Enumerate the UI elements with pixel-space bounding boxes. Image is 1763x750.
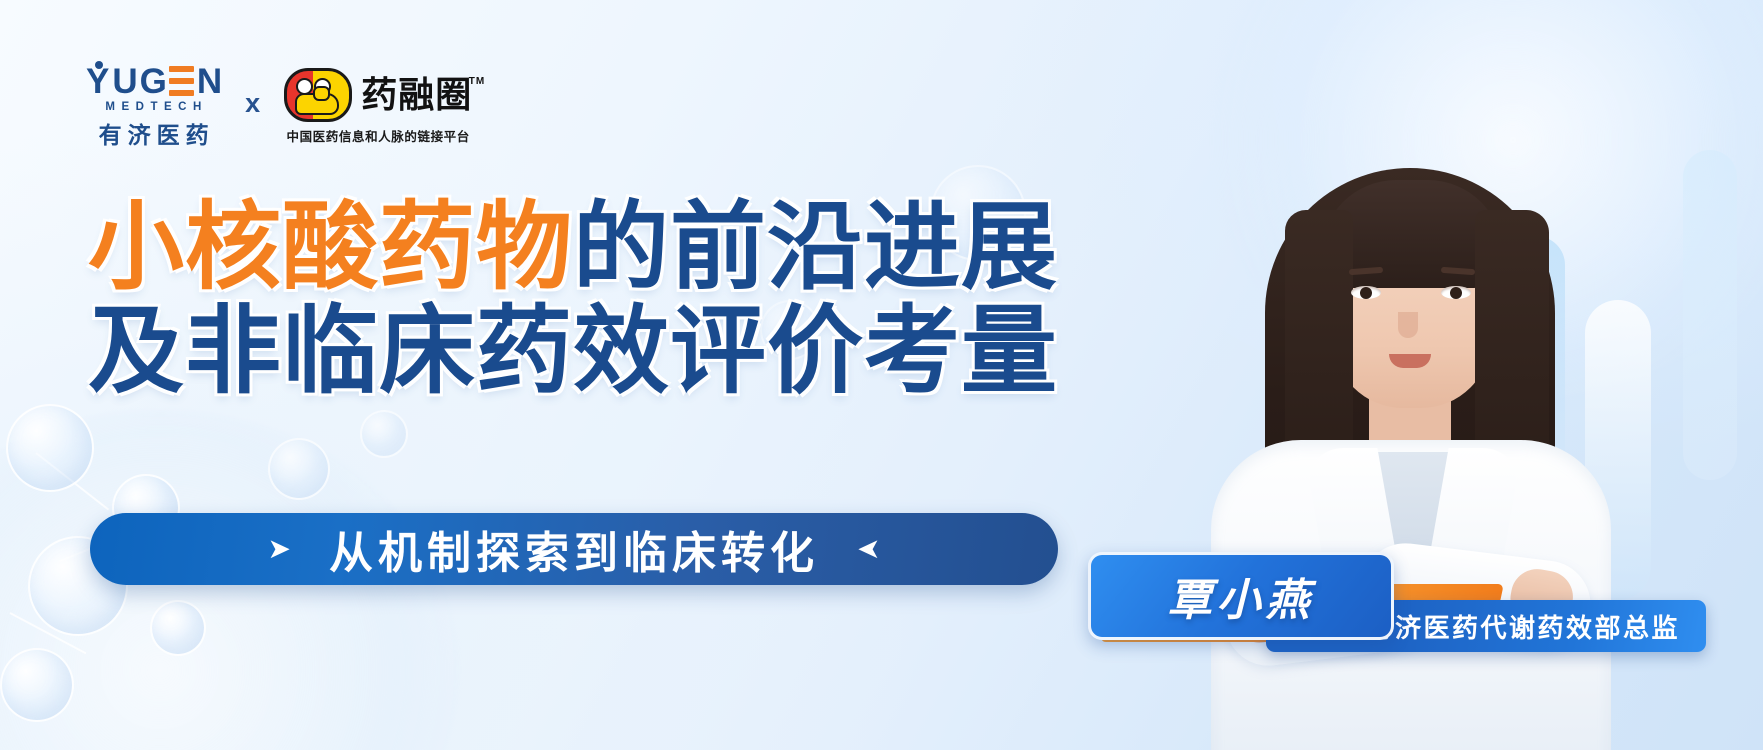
yugen-letter-y: Y: [86, 66, 109, 98]
decor-bar-4: [1683, 150, 1737, 480]
molecule-link: [10, 612, 87, 654]
yugen-logo[interactable]: Y U G N MEDTECH 有济医药: [86, 62, 221, 150]
subtitle-text: 从机制探索到临床转化: [329, 517, 819, 581]
headline-line-2: 及非临床药效评价考量: [88, 300, 1098, 404]
mascot-eye-left: [296, 78, 313, 95]
headline-line1-rest: 的前沿进展: [573, 191, 1058, 303]
subtitle-pill: ➤ 从机制探索到临床转化 ➤: [90, 513, 1058, 585]
yugen-letter-g: G: [140, 66, 166, 98]
yaorongquan-name-text: 药融圈: [361, 74, 472, 115]
molecule-sphere: [6, 404, 94, 492]
headline-block: 小核酸药物的前沿进展 及非临床药效评价考量: [88, 196, 1098, 403]
yaorongquan-name: 药融圈 TM: [361, 77, 472, 113]
thumbs-up-mascot-icon: [284, 68, 352, 122]
trademark-mark: TM: [469, 77, 485, 87]
speaker-nameplate: 有济医药代谢药效部总监 覃小燕: [1074, 552, 1714, 652]
molecule-sphere: [360, 410, 408, 458]
webinar-promo-banner: Y U G N MEDTECH 有济医药 x: [0, 0, 1763, 750]
yaorongquan-top: 药融圈 TM: [284, 68, 472, 122]
headline-highlight: 小核酸药物: [88, 191, 573, 303]
arrow-left-icon: ➤: [857, 535, 880, 563]
speaker-nose: [1398, 312, 1418, 338]
speaker-title: 有济医药代谢药效部总监: [1366, 608, 1680, 645]
molecule-sphere: [268, 438, 330, 500]
headline-line-1: 小核酸药物的前沿进展: [88, 196, 1098, 300]
yugen-letter-u: U: [112, 66, 136, 98]
speaker-pupil-right: [1450, 287, 1462, 299]
yaorongquan-tagline: 中国医药信息和人脉的链接平台: [286, 126, 469, 145]
speaker-name-box: 覃小燕: [1088, 552, 1394, 640]
speaker-photo: [1193, 140, 1623, 750]
yugen-letter-n: N: [197, 66, 221, 98]
yugen-wordmark: Y U G N: [86, 62, 221, 98]
yugen-dot: [95, 61, 103, 69]
yugen-letter-e-bars: [169, 66, 194, 98]
molecule-link: [35, 452, 109, 510]
arrow-right-icon: ➤: [268, 535, 291, 563]
speaker-name: 覃小燕: [1168, 564, 1315, 628]
molecule-sphere: [0, 648, 74, 722]
logo-separator-x: x: [239, 88, 266, 119]
yugen-chinese-name: 有济医药: [93, 116, 215, 150]
mascot-thumb: [313, 86, 330, 101]
speaker-pupil-left: [1360, 287, 1372, 299]
molecule-sphere: [150, 600, 206, 656]
logo-row: Y U G N MEDTECH 有济医药 x: [86, 62, 472, 150]
yugen-sub-wordmark: MEDTECH: [99, 101, 207, 113]
yaorongquan-logo[interactable]: 药融圈 TM 中国医药信息和人脉的链接平台: [284, 68, 472, 145]
